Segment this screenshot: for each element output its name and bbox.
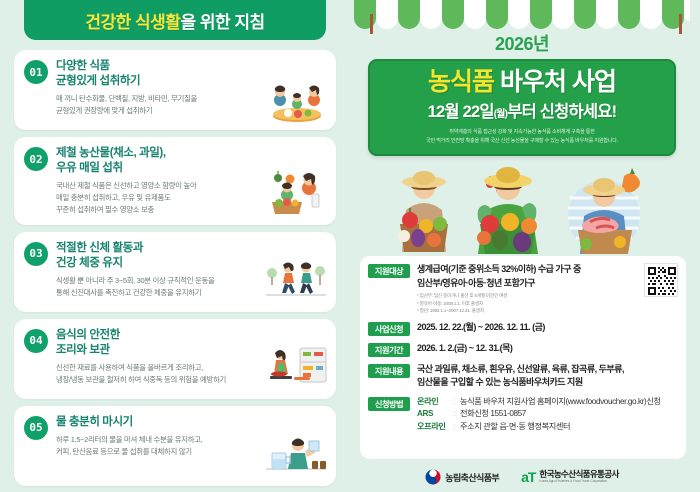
logo-at: aT 한국농수산식품유통공사 Korea Agro-Fisheries & Fo… xyxy=(521,469,619,485)
program-description: 취약계층의 식품 접근성 강화 및 지속가능한 농식품 소비체계 구축을 통한 … xyxy=(376,128,668,145)
apply-method-offline[interactable]: 오프라인 : 주소지 관할 읍·면·동 행정복지센터 xyxy=(417,421,678,434)
tip-desc-line1: 매 끼니 탄수화물, 단백질, 지방, 비타민, 무기질을 xyxy=(56,93,252,105)
tip-body: 적절한 신체 활동과 건강 체중 유지 식생활 뿐 아니라 주 3~5회, 30… xyxy=(56,241,254,303)
apply-method-ars[interactable]: ARS : 전화신청 1551-0857 xyxy=(417,408,678,421)
info-main-line1: 국산 과일류, 채소류, 흰우유, 신선알류, 육류, 잡곡류, 두부류, xyxy=(417,363,678,377)
woman-cooking-refrigerator-icon xyxy=(262,328,326,390)
tip-card-02[interactable]: 02 제철 농산물(채소, 과일), 우유 매일 섭취 국내산 제철 식품은 신… xyxy=(14,137,336,225)
tip-number-badge: 05 xyxy=(24,416,48,440)
three-farmers-with-produce-illustration xyxy=(354,158,690,254)
logo-mafra: 농림축산식품부 xyxy=(425,469,499,485)
tip-heading-line1: 다양한 식품 xyxy=(56,59,252,74)
info-row-how-to-apply: 신청방법 온라인 : 농식품 바우처 지원사업 홈페이지(www.foodvou… xyxy=(368,396,678,434)
year-label: 2026년 xyxy=(354,30,690,56)
info-footnote: * 영유아·아동: 2008.1.1. 이후 출생자 xyxy=(417,300,678,308)
apply-separator: : xyxy=(453,421,460,434)
info-label: 사업신청 xyxy=(368,322,410,336)
family-eating-meal-icon xyxy=(262,59,326,121)
info-label: 신청방법 xyxy=(368,397,410,411)
poster-root: 건강한 식생활을 위한 지침 01 다양한 식품 균형있게 섭취하기 매 끼니 … xyxy=(0,0,700,492)
tip-description: 하루 1.5~2리터의 물을 마셔 체내 수분을 유지하고, 커피, 탄산음료 … xyxy=(56,434,252,458)
program-description-line2: 국민 먹거리 안전망 확충을 위해 국산 신선 농산물을 구매할 수 있는 농식… xyxy=(376,137,668,145)
apply-method-online[interactable]: 온라인 : 농식품 바우처 지원사업 홈페이지(www.foodvoucher.… xyxy=(417,396,678,409)
info-footnote: * 청년: 1992.1.1~2007.12.31. 출생자 xyxy=(417,307,678,315)
logo-mafra-label: 농림축산식품부 xyxy=(445,471,499,484)
tip-heading-line1: 적절한 신체 활동과 xyxy=(56,241,252,256)
tip-desc-line1: 신선한 재료를 사용하여 식품을 올바르게 조리하고, xyxy=(56,362,252,374)
at-name-block: 한국농수산식품유통공사 Korea Agro-Fisheries & Food … xyxy=(539,470,618,484)
tip-heading-line2: 균형있게 섭취하기 xyxy=(56,74,252,89)
program-description-line1: 취약계층의 식품 접근성 강화 및 지속가능한 농식품 소비체계 구축을 통한 xyxy=(376,128,668,136)
tip-card-01[interactable]: 01 다양한 식품 균형있게 섭취하기 매 끼니 탄수화물, 단백질, 지방, … xyxy=(14,50,336,130)
tip-heading: 음식의 안전한 조리와 보관 xyxy=(56,328,252,358)
apply-method-value: 농식품 바우처 지원사업 홈페이지(www.foodvoucher.go.kr)… xyxy=(460,396,661,409)
main-sign-board: 농식품 바우처 사업 12월 22일(월)부터 신청하세요! 취약계층의 식품 … xyxy=(368,59,676,156)
apply-method-key: 온라인 xyxy=(417,396,453,409)
tip-desc-line1: 하루 1.5~2리터의 물을 마셔 체내 수분을 유지하고, xyxy=(56,434,252,446)
tip-body: 음식의 안전한 조리와 보관 신선한 재료를 사용하여 식품을 올바르게 조리하… xyxy=(56,328,254,390)
tip-heading: 다양한 식품 균형있게 섭취하기 xyxy=(56,59,252,89)
tip-description: 신선한 재료를 사용하여 식품을 올바르게 조리하고, 냉장/냉동 보관을 철저… xyxy=(56,362,252,386)
tips-list: 01 다양한 식품 균형있게 섭취하기 매 끼니 탄수화물, 단백질, 지방, … xyxy=(14,50,336,486)
sign-inner: 농식품 바우처 사업 12월 22일(월)부터 신청하세요! 취약계층의 식품 … xyxy=(368,59,676,156)
footer-logos: 농림축산식품부 aT 한국농수산식품유통공사 Korea Agro-Fisher… xyxy=(354,462,690,492)
info-row-support-content: 지원내용 국산 과일류, 채소류, 흰우유, 신선알류, 육류, 잡곡류, 두부… xyxy=(368,363,678,390)
tip-desc-line2: 매일 충분히 섭취하고, 우유 및 유제품도 xyxy=(56,192,252,204)
apply-method-key: ARS xyxy=(417,408,453,421)
right-panel-voucher-program: 2026년 농식품 바우처 사업 12월 22일(월)부터 신청하세요! 취약계… xyxy=(350,0,700,492)
program-title: 농식품 바우처 사업 xyxy=(376,69,668,95)
couple-jogging-icon xyxy=(262,241,326,303)
info-main-line2: 임산부/영유아·아동·청년 포함가구 xyxy=(417,277,678,291)
tip-desc-line2: 냉장/냉동 보관을 철저히 하여 식중독 등의 위험을 예방하기 xyxy=(56,374,252,386)
info-row-eligibility: 지원대상 생계급여(기준 중위소득 32%이하) 수급 가구 중 임산부/영유아… xyxy=(368,263,678,315)
apply-method-value: 전화신청 1551-0857 xyxy=(460,408,526,421)
info-value: 국산 과일류, 채소류, 흰우유, 신선알류, 육류, 잡곡류, 두부류, 임산… xyxy=(417,363,678,390)
info-label: 지원내용 xyxy=(368,364,410,378)
info-value: 생계급여(기준 중위소득 32%이하) 수급 가구 중 임산부/영유아·아동·청… xyxy=(417,263,678,315)
start-day-of-week: (월) xyxy=(494,109,507,120)
info-label: 지원기간 xyxy=(368,343,410,357)
tip-desc-line1: 식생활 뿐 아니라 주 3~5회, 30분 이상 규칙적인 운동을 xyxy=(56,275,252,287)
tip-number-badge: 02 xyxy=(24,147,48,171)
man-drinking-water-icon xyxy=(262,415,326,477)
tip-heading-line1: 물 충분히 마시기 xyxy=(56,415,252,430)
at-mark: aT xyxy=(521,469,535,485)
info-main-line1: 2025. 12. 22.(월) ~ 2026. 12. 11. (금) xyxy=(417,321,678,335)
mother-child-vegetable-basket-icon xyxy=(262,146,326,216)
taegeuk-icon xyxy=(425,469,441,485)
program-info-table: 지원대상 생계급여(기준 중위소득 32%이하) 수급 가구 중 임산부/영유아… xyxy=(360,256,686,459)
apply-separator: : xyxy=(453,408,460,421)
info-main-line1: 2026. 1. 2.(금) ~ 12. 31.(목) xyxy=(417,342,678,356)
tip-number-badge: 04 xyxy=(24,329,48,353)
left-panel-dietary-guidelines: 건강한 식생활을 위한 지침 01 다양한 식품 균형있게 섭취하기 매 끼니 … xyxy=(0,0,350,492)
tip-desc-line2: 통해 신진대사를 촉진하고 건강한 체중을 유지하기 xyxy=(56,287,252,299)
tip-description: 국내산 제철 식품은 신선하고 영양소 함량이 높아 매일 충분히 섭취하고, … xyxy=(56,180,252,216)
tip-desc-line1: 국내산 제철 식품은 신선하고 영양소 함량이 높아 xyxy=(56,180,252,192)
tip-desc-line2: 커피, 탄산음료 등으로 물 섭취를 대체하지 않기 xyxy=(56,446,252,458)
tip-heading-line2: 건강 체중 유지 xyxy=(56,256,252,271)
info-row-application-period: 사업신청 2025. 12. 22.(월) ~ 2026. 12. 11. (금… xyxy=(368,321,678,336)
tip-number-badge: 03 xyxy=(24,242,48,266)
tip-body: 제철 농산물(채소, 과일), 우유 매일 섭취 국내산 제철 식품은 신선하고… xyxy=(56,146,254,216)
info-footnotes: * 임산부: 임신 중이거나 출산 후 6개월 미만인 여성 * 영유아·아동:… xyxy=(417,292,678,315)
tip-card-04[interactable]: 04 음식의 안전한 조리와 보관 신선한 재료를 사용하여 식품을 올바르게 … xyxy=(14,319,336,399)
info-value: 온라인 : 농식품 바우처 지원사업 홈페이지(www.foodvoucher.… xyxy=(417,396,678,434)
tip-heading-line1: 음식의 안전한 xyxy=(56,328,252,343)
tip-heading: 적절한 신체 활동과 건강 체중 유지 xyxy=(56,241,252,271)
program-title-rest: 바우처 사업 xyxy=(494,68,616,96)
tip-heading-line2: 조리와 보관 xyxy=(56,343,252,358)
tip-card-03[interactable]: 03 적절한 신체 활동과 건강 체중 유지 식생활 뿐 아니라 주 3~5회,… xyxy=(14,232,336,312)
info-label: 지원대상 xyxy=(368,264,410,278)
tip-number-badge: 01 xyxy=(24,60,48,84)
start-date: 12월 22일 xyxy=(428,103,494,121)
tip-desc-line3: 꾸준히 섭취하여 필수 영양소 보충 xyxy=(56,204,252,216)
info-main-line1: 생계급여(기준 중위소득 32%이하) 수급 가구 중 xyxy=(417,263,678,277)
info-footnote: * 임산부: 임신 중이거나 출산 후 6개월 미만인 여성 xyxy=(417,292,678,300)
tip-body: 물 충분히 마시기 하루 1.5~2리터의 물을 마셔 체내 수분을 유지하고,… xyxy=(56,415,254,477)
info-main-line2: 임산물을 구입할 수 있는 농식품바우처카드 지원 xyxy=(417,376,678,390)
tip-heading-line2: 우유 매일 섭취 xyxy=(56,161,252,176)
at-name-en: Korea Agro-Fisheries & Food Trade Corpor… xyxy=(539,480,618,484)
tip-body: 다양한 식품 균형있게 섭취하기 매 끼니 탄수화물, 단백질, 지방, 비타민… xyxy=(56,59,254,121)
tip-description: 매 끼니 탄수화물, 단백질, 지방, 비타민, 무기질을 균형있게 권장량에 … xyxy=(56,93,252,117)
info-value: 2026. 1. 2.(금) ~ 12. 31.(목) xyxy=(417,342,678,357)
left-panel-title-bar: 건강한 식생활을 위한 지침 xyxy=(24,0,326,40)
tip-heading: 물 충분히 마시기 xyxy=(56,415,252,430)
tip-heading: 제철 농산물(채소, 과일), 우유 매일 섭취 xyxy=(56,146,252,176)
apply-separator: : xyxy=(453,396,460,409)
page-title-rest: 을 위한 지침 xyxy=(180,13,264,32)
page-title-highlight: 건강한 식생활 xyxy=(85,13,180,32)
tip-card-05[interactable]: 05 물 충분히 마시기 하루 1.5~2리터의 물을 마셔 체내 수분을 유지… xyxy=(14,406,336,486)
tip-heading-line1: 제철 농산물(채소, 과일), xyxy=(56,146,252,161)
tip-description: 식생활 뿐 아니라 주 3~5회, 30분 이상 규칙적인 운동을 통해 신진대… xyxy=(56,275,252,299)
info-value: 2025. 12. 22.(월) ~ 2026. 12. 11. (금) xyxy=(417,321,678,336)
tip-desc-line2: 균형있게 권장량에 맞게 섭취하기 xyxy=(56,105,252,117)
page-title: 건강한 식생활을 위한 지침 xyxy=(85,8,264,33)
program-start-date-line: 12월 22일(월)부터 신청하세요! xyxy=(376,98,668,122)
awning-decoration xyxy=(354,0,690,34)
program-title-highlight: 농식품 xyxy=(428,68,494,96)
apply-cta: 부터 신청하세요! xyxy=(507,103,616,121)
apply-method-value: 주소지 관할 읍·면·동 행정복지센터 xyxy=(460,421,570,434)
info-row-support-period: 지원기간 2026. 1. 2.(금) ~ 12. 31.(목) xyxy=(368,342,678,357)
apply-method-key: 오프라인 xyxy=(417,421,453,434)
